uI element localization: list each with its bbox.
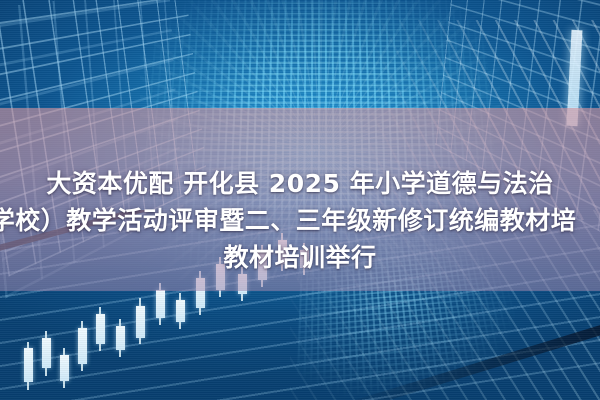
candle-body: [136, 306, 145, 338]
headline-line-3: 教材培训举行: [0, 239, 600, 276]
headline: 大资本优配 开化县 2025 年小学道德与法治 学校）教学活动评审暨二、三年级新…: [0, 165, 600, 276]
candle-body: [24, 348, 33, 382]
candle-body: [116, 326, 125, 350]
candle-body: [176, 300, 185, 322]
candle-body: [60, 355, 69, 381]
candle-body: [196, 278, 205, 308]
headline-line-2: 学校）教学活动评审暨二、三年级新修订统编教材培: [0, 202, 600, 239]
headline-line-1: 大资本优配 开化县 2025 年小学道德与法治: [0, 165, 600, 202]
candle-body: [238, 274, 247, 294]
candle-body: [42, 338, 51, 368]
candle-body: [78, 328, 87, 364]
candle-body: [156, 290, 165, 318]
banner-image: 大资本优配 开化县 2025 年小学道德与法治 学校）教学活动评审暨二、三年级新…: [0, 0, 600, 400]
headline-line-2-text: 学校）教学活动评审暨二、三年级新修订统编教材培: [0, 202, 576, 239]
candle-body: [96, 314, 105, 344]
